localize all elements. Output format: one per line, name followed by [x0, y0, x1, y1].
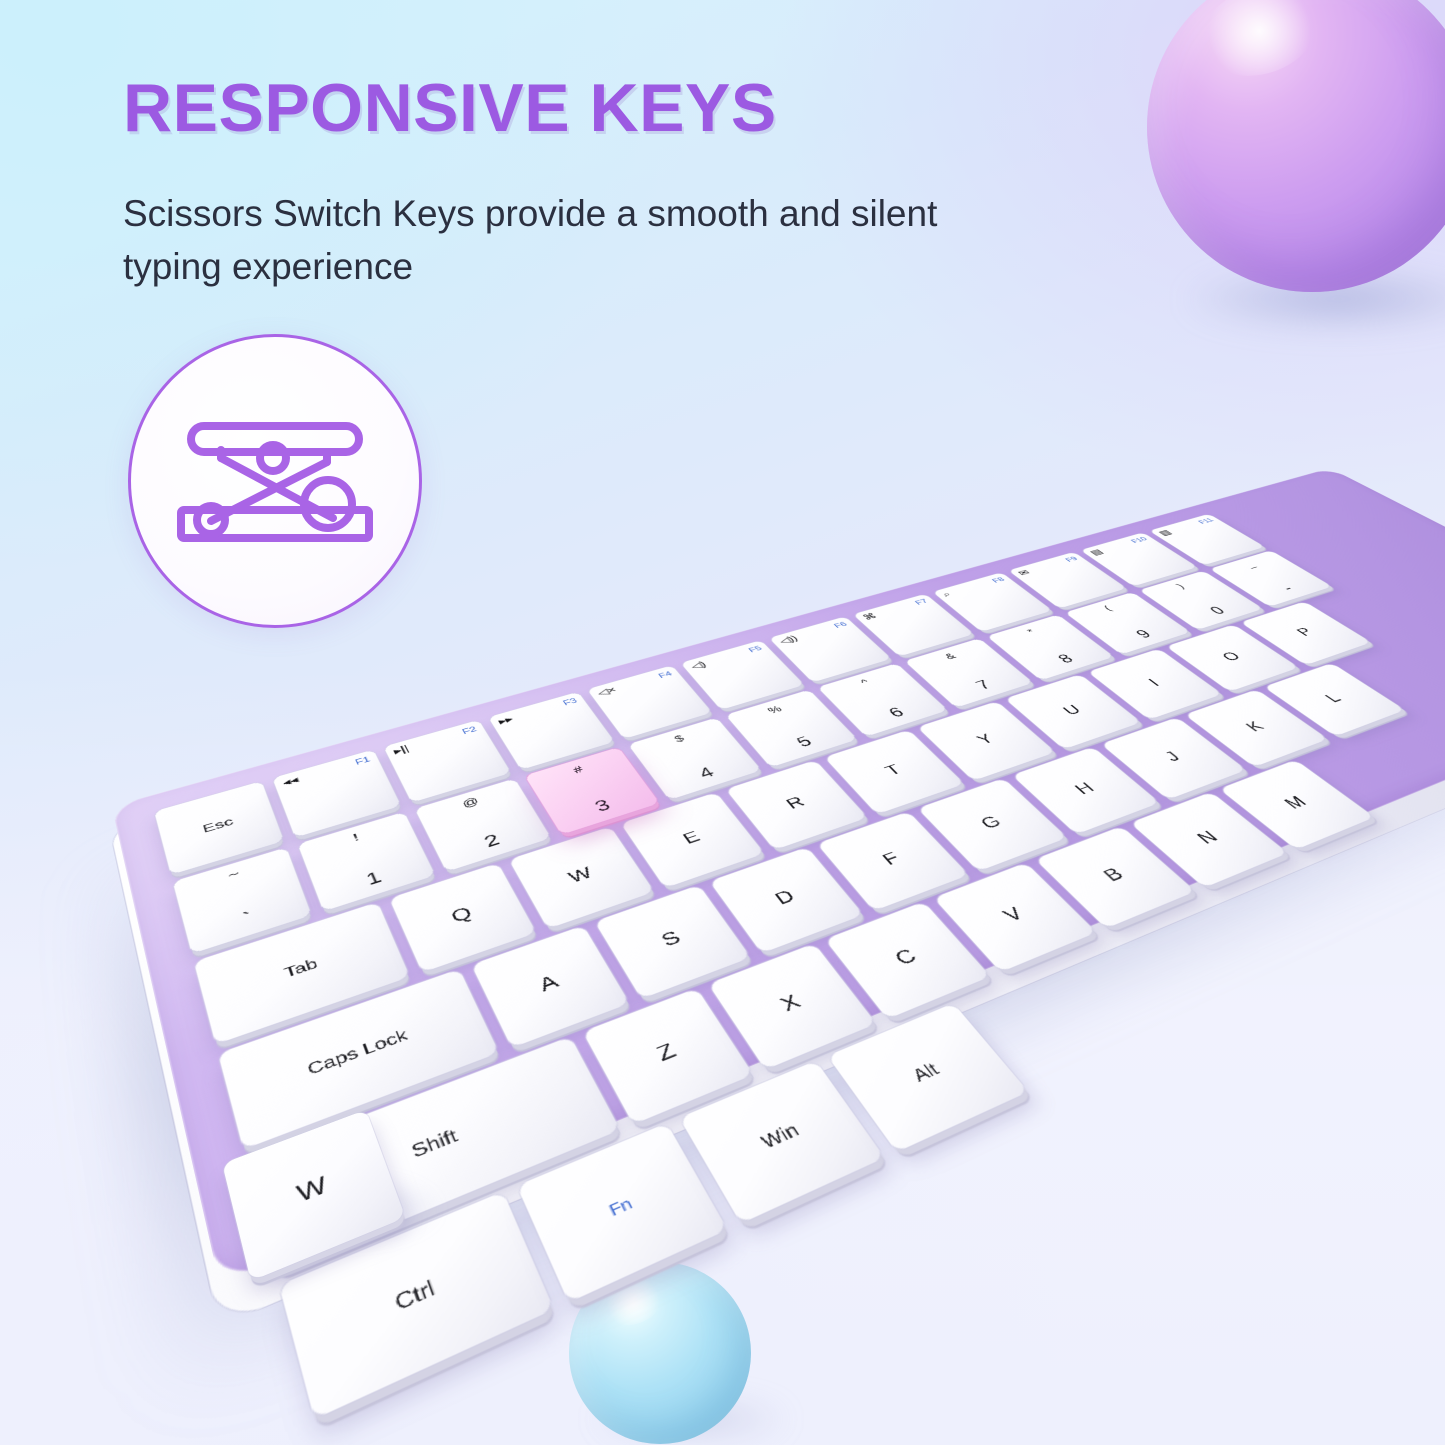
key-f7[interactable]: ⌘F7: [853, 594, 974, 657]
key-label: Y: [973, 732, 998, 748]
key-y[interactable]: Y: [917, 701, 1056, 781]
key-upper-label: &: [908, 641, 992, 672]
previous-track-icon: ◂◂: [281, 774, 300, 789]
key-9[interactable]: (9: [1065, 592, 1191, 654]
key-label: P: [1293, 626, 1317, 639]
key-fn-label: F3: [561, 697, 579, 708]
key-k[interactable]: K: [1185, 689, 1328, 767]
page-title: RESPONSIVE KEYS: [123, 74, 1073, 142]
key-w[interactable]: W: [509, 827, 655, 929]
purple-sphere: [1147, 0, 1445, 292]
key-label: U: [1060, 703, 1085, 718]
key-p[interactable]: P: [1240, 601, 1371, 665]
key-lower-label: 0: [1177, 595, 1258, 626]
key-fn-label: F11: [1196, 517, 1216, 525]
apps-icon: ▤: [1087, 548, 1105, 557]
key-label: Alt: [910, 1061, 943, 1086]
blue-sphere-highlight: [596, 1271, 669, 1333]
copy-block: RESPONSIVE KEYS Scissors Switch Keys pro…: [123, 74, 1073, 293]
key-m[interactable]: M: [1219, 760, 1374, 850]
window-icon: ▧: [1156, 528, 1174, 537]
key-f10[interactable]: ▤F10: [1080, 533, 1197, 587]
key-label: L: [1321, 691, 1345, 705]
key-label: V: [999, 904, 1028, 926]
key-f9[interactable]: ✉F9: [1008, 552, 1126, 608]
key-label: M: [1280, 794, 1311, 813]
key-8[interactable]: *8: [987, 615, 1114, 681]
key-b[interactable]: B: [1035, 826, 1196, 928]
key-r[interactable]: R: [726, 760, 868, 850]
volume-down-icon: ◁): [688, 659, 708, 671]
browser-icon: ⌘: [860, 611, 879, 622]
key-label: B: [1100, 865, 1129, 885]
key-f1[interactable]: ◂◂F1: [272, 750, 401, 838]
key-upper-label: %: [728, 693, 820, 727]
key-q[interactable]: Q: [389, 863, 536, 973]
key-fn-label: F1: [354, 755, 372, 767]
key-esc[interactable]: Esc: [154, 781, 284, 875]
key-label: D: [771, 887, 799, 908]
key-lower-label: 9: [1101, 618, 1185, 651]
key-label: Z: [653, 1040, 680, 1066]
key-label: Tab: [283, 957, 320, 981]
key-f5[interactable]: ◁)F5: [680, 640, 804, 710]
key-l[interactable]: L: [1264, 663, 1405, 736]
key-label: F: [879, 850, 904, 869]
key-lower-label: 4: [655, 751, 758, 795]
key-alt[interactable]: Alt: [828, 1003, 1028, 1152]
key-lower-label: 5: [755, 722, 854, 763]
key-label: Shift: [410, 1128, 461, 1163]
key-d[interactable]: D: [709, 847, 863, 953]
exposed-scissor-switch: [533, 752, 652, 829]
lifted-key-light-column: [525, 747, 660, 835]
switch-stem: [579, 781, 604, 797]
key-6[interactable]: ^6: [817, 663, 948, 736]
key-f[interactable]: F: [817, 812, 969, 911]
key-label: A: [536, 972, 562, 996]
key-label: R: [783, 794, 809, 812]
key-label: Win: [758, 1121, 803, 1153]
key-f4[interactable]: ◁×F4: [587, 665, 712, 739]
key-1[interactable]: !1: [298, 812, 436, 912]
key-f11[interactable]: ▧F11: [1149, 514, 1265, 565]
blue-sphere: [569, 1262, 751, 1444]
key-lower-label: 7: [938, 667, 1029, 704]
mail-icon: ✉: [1015, 568, 1032, 577]
switch-dish: [555, 766, 629, 814]
key-s[interactable]: S: [594, 885, 751, 999]
key-g[interactable]: G: [917, 778, 1067, 871]
key-lower-label: `: [185, 891, 310, 948]
purple-sphere-highlight: [1189, 0, 1328, 90]
key-t[interactable]: T: [824, 730, 964, 814]
key-lower-label: 2: [435, 817, 548, 867]
key-label: Caps Lock: [306, 1028, 410, 1079]
volume-up-icon: ◁)): [776, 634, 800, 646]
key-key[interactable]: _-: [1210, 550, 1332, 606]
key-label: Q: [448, 904, 475, 926]
mute-icon: ◁×: [595, 685, 619, 699]
key-v[interactable]: V: [933, 863, 1096, 972]
key-i[interactable]: I: [1088, 649, 1223, 720]
key-fn-label: F7: [913, 598, 930, 606]
key-lower-label: 6: [849, 694, 944, 733]
key-lower-label: 8: [1022, 642, 1110, 677]
key-3[interactable]: #3: [525, 747, 660, 835]
key-n[interactable]: N: [1130, 792, 1288, 888]
key-label: Esc: [201, 816, 234, 835]
key-u[interactable]: U: [1005, 674, 1142, 749]
key-c[interactable]: C: [824, 902, 990, 1019]
key-f8[interactable]: ⌕F8: [933, 572, 1053, 631]
key-a[interactable]: A: [471, 925, 630, 1048]
key-j[interactable]: J: [1101, 717, 1247, 799]
key-upper-label: ~: [174, 852, 292, 899]
scissor-switch-icon: [177, 406, 373, 556]
key-fn-label: F6: [832, 620, 849, 629]
key-label: I: [1145, 677, 1163, 689]
key-e[interactable]: E: [621, 792, 765, 888]
key-0[interactable]: )0: [1139, 571, 1263, 630]
key-fn-label: F4: [656, 670, 673, 680]
key-tab[interactable]: Tab: [194, 902, 410, 1044]
key-x[interactable]: X: [708, 943, 876, 1069]
key-upper-label: #: [527, 751, 628, 789]
key-z[interactable]: Z: [582, 988, 753, 1124]
key-caps-lock[interactable]: Caps Lock: [218, 969, 499, 1149]
key-f3[interactable]: ▸▸F3: [488, 692, 615, 770]
key-label: K: [1242, 719, 1268, 734]
key-2[interactable]: @2: [415, 778, 552, 871]
play-pause-icon: ▸||: [391, 743, 410, 757]
key-label: J: [1161, 749, 1185, 764]
key-lower-label: 1: [314, 853, 433, 906]
key-fn-label: F5: [747, 644, 764, 653]
key-lower-label: -: [1248, 574, 1327, 604]
key-label: G: [977, 813, 1006, 832]
key-lower-label: 3: [548, 783, 656, 830]
key-upper-label: $: [631, 721, 727, 757]
key-label: X: [776, 991, 805, 1016]
key-f6[interactable]: ◁))F6: [769, 616, 892, 682]
key-label: O: [1219, 650, 1245, 664]
key-label: E: [679, 829, 703, 848]
center-pivot: [260, 445, 286, 471]
key-label: Fn: [607, 1195, 635, 1219]
scissor-switch-badge: [128, 334, 422, 628]
key-upper-label: (: [1069, 595, 1146, 623]
key-upper-label: *: [990, 617, 1071, 646]
key-label: T: [882, 762, 905, 778]
loose-keycap-shadow: [246, 1176, 436, 1242]
key-label: S: [658, 928, 684, 950]
key-label: H: [1071, 780, 1098, 798]
key-key[interactable]: ~`: [173, 847, 312, 953]
key-upper-label: _: [1214, 553, 1286, 578]
key-o[interactable]: O: [1166, 624, 1299, 691]
key-label: Ctrl: [393, 1278, 438, 1316]
key-label: W: [565, 864, 595, 886]
key-5[interactable]: %5: [725, 690, 857, 768]
key-label: N: [1193, 828, 1223, 847]
next-track-icon: ▸▸: [496, 714, 515, 727]
key-upper-label: ): [1143, 573, 1217, 599]
key-h[interactable]: H: [1012, 747, 1160, 835]
key-fn-label: F10: [1129, 536, 1150, 545]
subtitle: Scissors Switch Keys provide a smooth an…: [123, 188, 1023, 293]
key-f2[interactable]: ▸||F2: [383, 720, 511, 803]
key-fn-label: F2: [461, 725, 479, 736]
key-4[interactable]: $4: [628, 718, 762, 800]
key-7[interactable]: &7: [904, 638, 1033, 707]
search-icon: ⌕: [939, 590, 953, 598]
product-feature-image: RESPONSIVE KEYS Scissors Switch Keys pro…: [0, 0, 1445, 1445]
key-fn-label: F9: [1063, 555, 1080, 563]
key-upper-label: ^: [821, 666, 909, 698]
key-win[interactable]: Win: [679, 1060, 885, 1223]
key-upper-label: @: [417, 782, 523, 823]
key-fn-label: F8: [990, 576, 1007, 584]
key-label: C: [891, 946, 921, 970]
key-upper-label: !: [299, 816, 411, 860]
